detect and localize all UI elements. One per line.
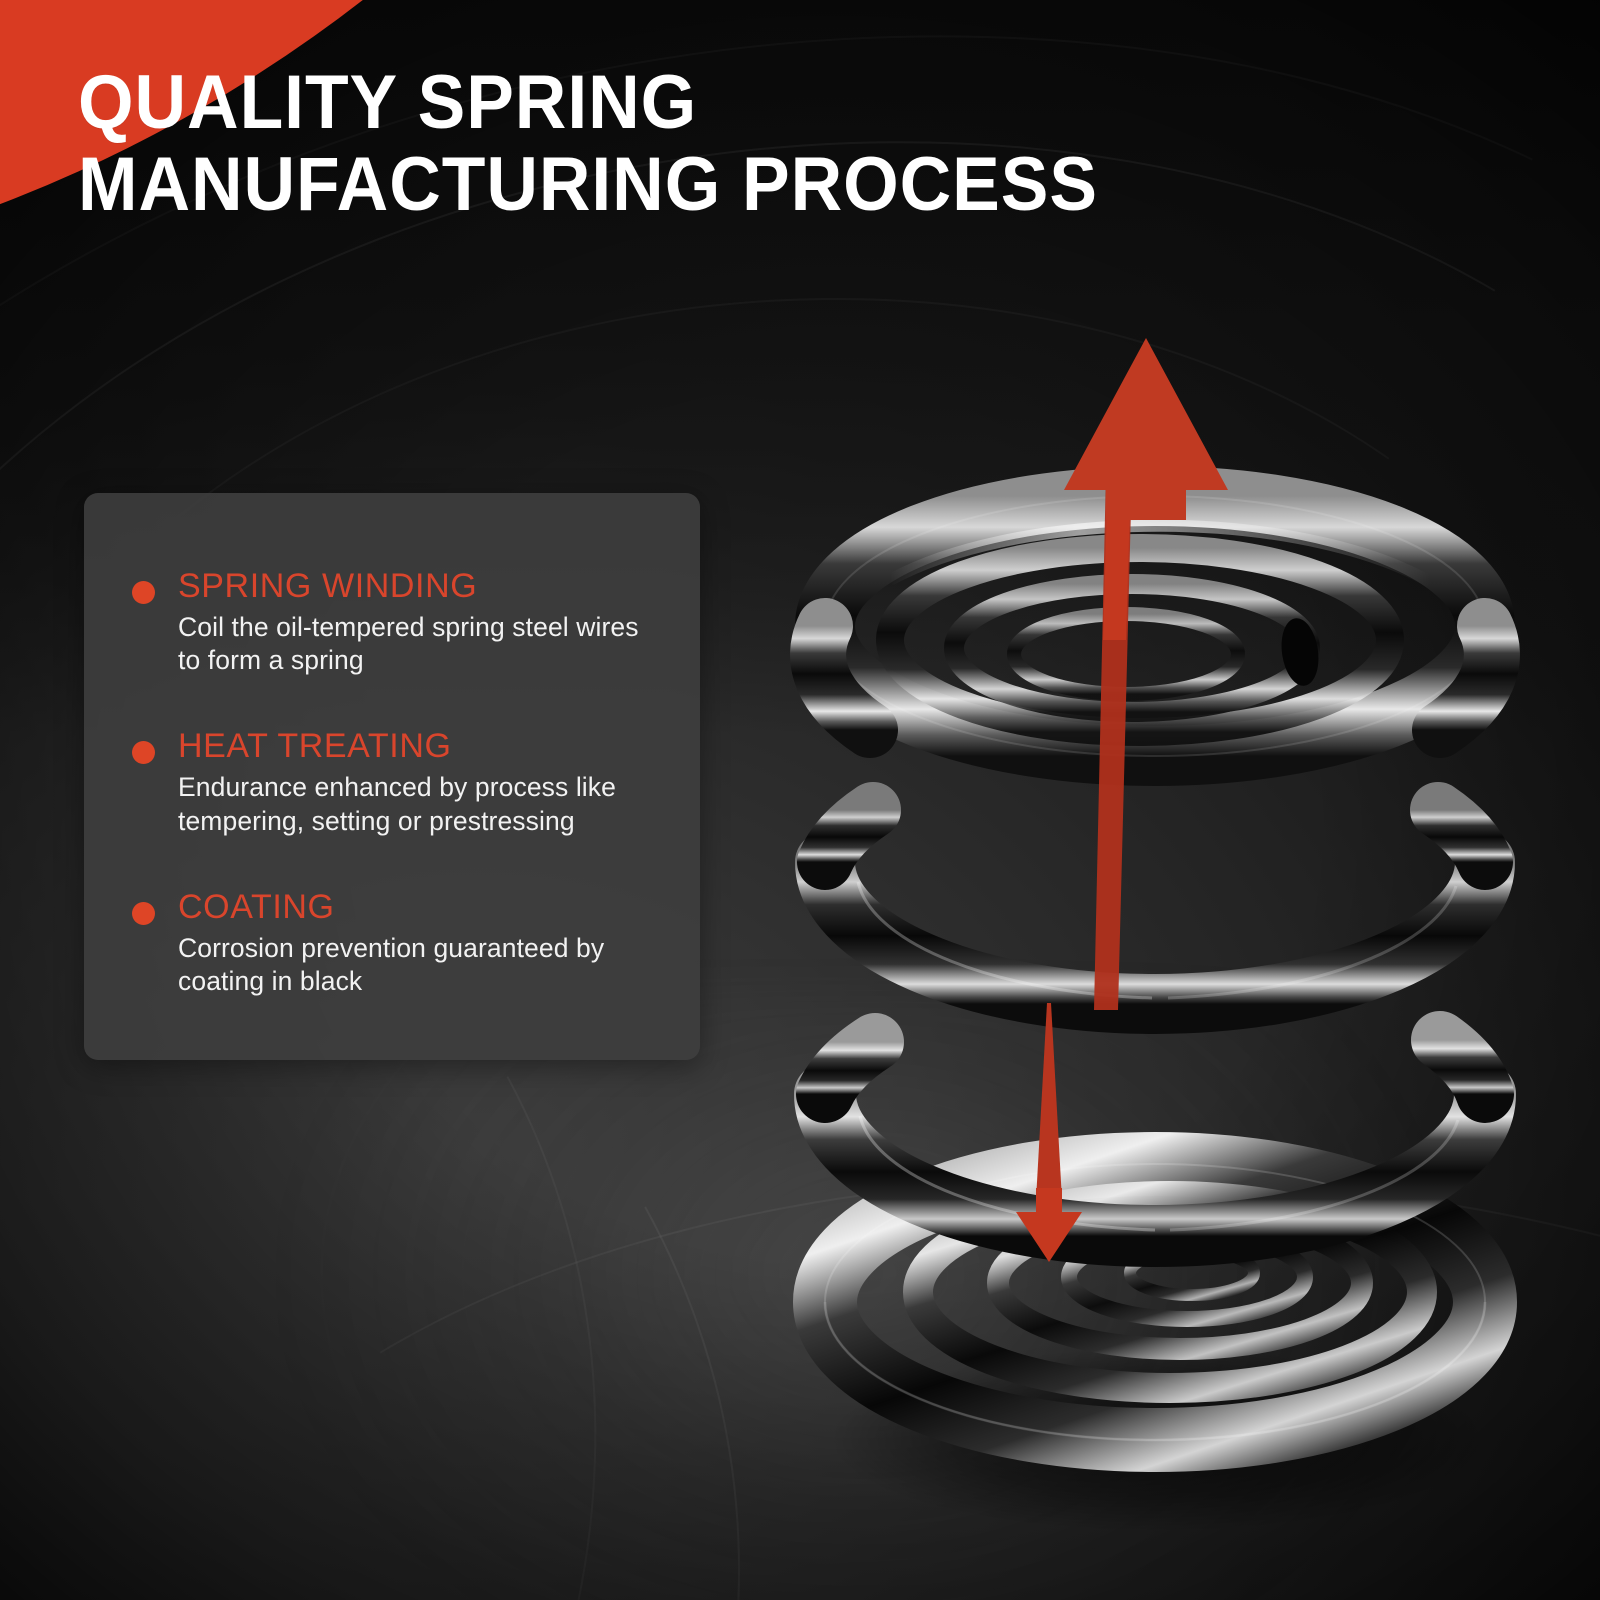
bullet-dot-icon <box>132 741 155 764</box>
step-title: HEAT TREATING <box>178 729 666 765</box>
page-title-line-2: MANUFACTURING PROCESS <box>78 144 1206 226</box>
process-step-item: COATING Corrosion prevention guaranteed … <box>118 890 666 998</box>
arrow-up-icon <box>1064 338 1228 1010</box>
step-title: COATING <box>178 890 666 926</box>
page-title: QUALITY SPRING MANUFACTURING PROCESS <box>78 62 1206 226</box>
step-description: Corrosion prevention guaranteed by coati… <box>178 932 666 999</box>
step-description: Endurance enhanced by process like tempe… <box>178 771 666 838</box>
step-description: Coil the oil-tempered spring steel wires… <box>178 611 666 678</box>
page-title-line-1: QUALITY SPRING <box>78 62 1206 144</box>
process-step-item: HEAT TREATING Endurance enhanced by proc… <box>118 729 666 837</box>
process-step-item: SPRING WINDING Coil the oil-tempered spr… <box>118 569 666 677</box>
bullet-dot-icon <box>132 902 155 925</box>
infographic-canvas: QUALITY SPRING MANUFACTURING PROCESS SPR… <box>0 0 1600 1600</box>
bullet-dot-icon <box>132 581 155 604</box>
arrow-down-icon <box>1016 1003 1082 1262</box>
step-title: SPRING WINDING <box>178 569 666 605</box>
process-steps-panel: SPRING WINDING Coil the oil-tempered spr… <box>84 493 700 1060</box>
